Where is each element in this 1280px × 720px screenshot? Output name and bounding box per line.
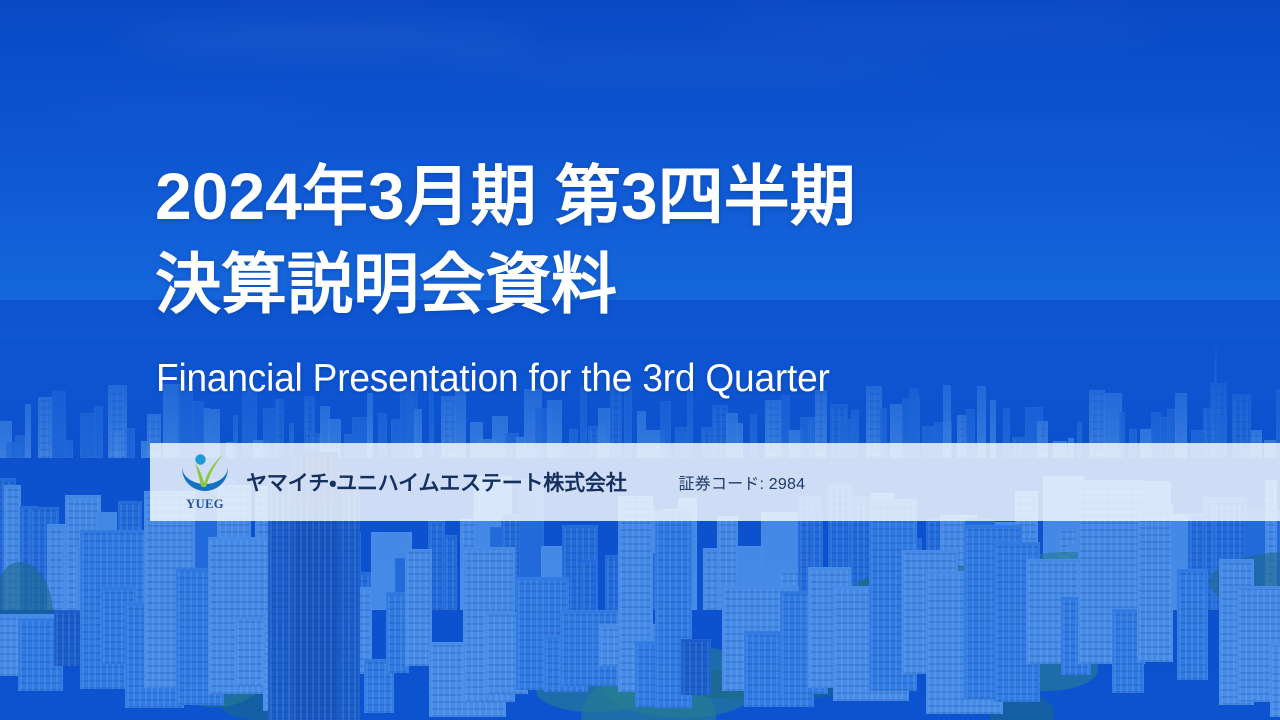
cloud-wisp <box>120 22 540 56</box>
title-line-2: 決算説明会資料 <box>155 240 856 328</box>
cloud-wisp <box>700 12 1160 42</box>
securities-code: 証券コード: 2984 <box>679 470 806 494</box>
logo-abbreviation: YUEG <box>178 497 232 512</box>
building <box>1177 569 1208 680</box>
company-name: ヤマイチ・ユニハイムエステート株式会社 <box>246 467 627 497</box>
building <box>405 549 432 666</box>
foreground-city <box>0 530 1280 720</box>
subtitle: Financial Presentation for the 3rd Quart… <box>156 356 830 402</box>
cloud-wisp <box>430 52 950 78</box>
cloud-wisp <box>40 96 340 116</box>
building <box>681 639 711 695</box>
building <box>1270 643 1280 717</box>
title-line-1: 2024年3月期 第3四半期 <box>155 152 856 240</box>
presentation-title-slide: 2024年3月期 第3四半期 決算説明会資料 Financial Present… <box>0 0 1280 720</box>
company-info-bar: YUEG ヤマイチ・ユニハイムエステート株式会社 証券コード: 2984 <box>150 443 1280 521</box>
yueg-logo-icon: YUEG <box>178 453 232 511</box>
cloud-wisp <box>880 128 1280 150</box>
page-title: 2024年3月期 第3四半期 決算説明会資料 <box>155 152 856 328</box>
building <box>1137 504 1173 662</box>
